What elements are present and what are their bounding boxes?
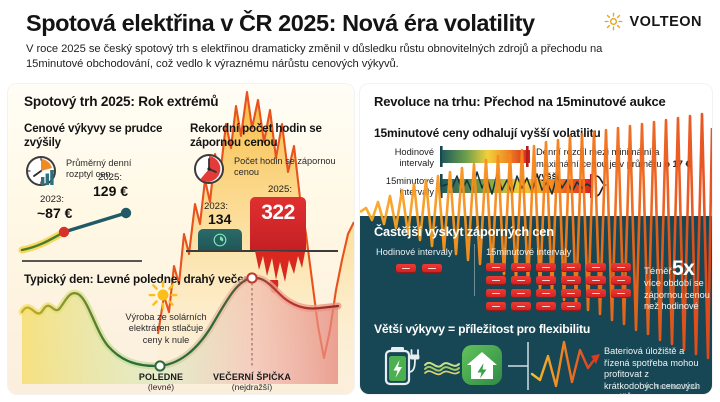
negative-chip-quarter [611, 276, 631, 285]
watermark-label: NotebookLM [654, 382, 698, 391]
clock-small-icon [213, 233, 227, 247]
notebooklm-icon [643, 383, 651, 391]
clock-chart-icon [24, 154, 58, 188]
brand-name: VOLTEON [629, 14, 702, 30]
sun-icon [604, 12, 623, 31]
negative-chip-quarter [561, 302, 581, 311]
noon-label: POLEDNE [120, 372, 202, 382]
negative-chip-quarter [511, 289, 531, 298]
negative-hourly-label: Hodinové intervaly [376, 247, 486, 258]
negative-bar-2025-value: 322 [250, 201, 306, 225]
negative-chip-quarter [511, 276, 531, 285]
negative-bar-baseline [186, 250, 338, 252]
volatility-note: Denní rozdíl mezi minimální a maximální … [536, 146, 704, 181]
page-subtitle: V roce 2025 se český spotový trh s elekt… [26, 42, 626, 71]
negative-stat-text: více období se zápornou cenou než hodino… [644, 278, 712, 313]
infographic-root: Spotová elektřina v ČR 2025: Nová éra vo… [0, 0, 720, 402]
volatility-note-plain: Denní rozdíl mezi minimální a maximální … [536, 146, 664, 169]
spread-2025-year: 2025: [98, 172, 122, 183]
negative-chip-quarter [586, 263, 606, 272]
negative-bar-2025: 322 [250, 197, 306, 251]
negative-chip-hourly [422, 264, 442, 273]
noon-sublabel: (levné) [120, 382, 202, 392]
solar-note: Výroba ze solárních elektráren stlačuje … [118, 312, 214, 346]
hourly-intervals-label: Hodinové intervaly [368, 147, 434, 169]
left-panel: Spotový trh 2025: Rok extrémů Cenové výk… [8, 84, 354, 394]
negative-chip-quarter [611, 289, 631, 298]
left-section-title: Spotový trh 2025: Rok extrémů [24, 94, 218, 109]
negative-2023-value: 134 [208, 211, 231, 227]
clock-red-icon [192, 152, 226, 186]
flexibility-heading: Větší výkyvy = příležitost pro flexibili… [374, 322, 590, 336]
battery-charging-icon [382, 342, 422, 388]
spread-2023-year: 2023: [40, 194, 64, 205]
negative-prices-heading: Častější výskyt záporných cen [374, 224, 554, 239]
negative-chip-quarter [486, 263, 506, 272]
negative-chip-quarter [536, 289, 556, 298]
negative-chip-quarter [486, 302, 506, 311]
negative-chip-quarter [511, 302, 531, 311]
negative-chip-quarter [486, 289, 506, 298]
negative-chip-quarter [536, 263, 556, 272]
negative-chip-quarter [486, 276, 506, 285]
negative-chip-quarter [561, 263, 581, 272]
negative-columns-divider [474, 244, 475, 296]
negative-chip-quarter [511, 263, 531, 272]
card-negative-heading: Rekordní počet hodin se zápornou cenou [190, 122, 350, 150]
spread-2023-value: ~87 € [37, 205, 72, 221]
negative-chip-quarter [611, 263, 631, 272]
energy-wave-icon [424, 356, 460, 378]
negative-chip-quarter [561, 276, 581, 285]
negative-quarter-label: 15minutové intervaly [486, 247, 606, 258]
negative-stat-prefix: Téměř [644, 266, 672, 277]
sun-icon-daily [148, 280, 178, 310]
page-title: Spotová elektřina v ČR 2025: Nová éra vo… [26, 10, 535, 37]
evening-peak-sublabel: (nejdražší) [200, 382, 304, 392]
evening-peak-label: VEČERNÍ ŠPIČKA [200, 372, 304, 382]
header: Spotová elektřina v ČR 2025: Nová éra vo… [0, 0, 720, 80]
negative-chip-quarter [561, 289, 581, 298]
card-negative-caption: Počet hodin se zápornou cenou [234, 156, 338, 179]
smart-home-icon [460, 343, 504, 387]
right-panel: Revoluce na trhu: Přechod na 15minutové … [360, 84, 712, 394]
left-divider [22, 260, 142, 262]
card-spread-heading: Cenové výkyvy se prudce zvýšily [24, 122, 174, 150]
negative-chip-hourly [396, 264, 416, 273]
volatility-heading: 15minutové ceny odhalují vyšší volatilit… [374, 126, 601, 140]
brand-logo: VOLTEON [604, 12, 702, 31]
watermark: NotebookLM [643, 382, 698, 391]
quarter-intervals-label: 15minutové intervaly [364, 176, 434, 198]
spread-2025-value: 129 € [93, 183, 128, 199]
negative-chip-quarter [536, 276, 556, 285]
negative-2025-year: 2025: [268, 184, 292, 195]
negative-chip-quarter [586, 276, 606, 285]
negative-bar-2023 [198, 229, 242, 251]
negative-chip-quarter [586, 289, 606, 298]
negative-chip-quarter [536, 302, 556, 311]
right-section-title: Revoluce na trhu: Přechod na 15minutové … [374, 94, 666, 109]
